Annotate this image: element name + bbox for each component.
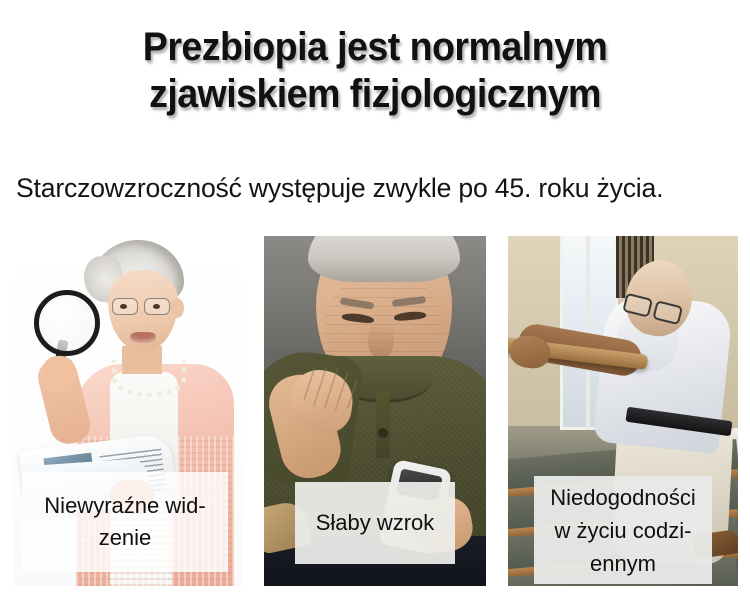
panel-3-caption: Niedogodności w życiu codzi- ennym bbox=[534, 476, 712, 584]
man-grey-hair bbox=[308, 236, 460, 282]
man-nose bbox=[368, 322, 394, 360]
man-sweater-button bbox=[378, 428, 388, 438]
woman-eye-left bbox=[120, 304, 127, 309]
symptom-panel-blurry-vision: Niewyraźne wid- zenie bbox=[14, 236, 242, 586]
panel-1-caption: Niewyraźne wid- zenie bbox=[22, 472, 228, 572]
page-subtitle: Starczowzroczność występuje zwykle po 45… bbox=[16, 172, 729, 204]
man-sweater-placket bbox=[376, 392, 390, 458]
symptom-panel-strip: Niewyraźne wid- zenie bbox=[0, 236, 750, 586]
woman-mouth bbox=[130, 332, 156, 343]
panel-2-caption: Słaby wzrok bbox=[295, 482, 455, 564]
woman-hand-holding-magnifier bbox=[42, 356, 76, 392]
symptom-panel-daily-life-difficulties: Niedogodności w życiu codzi- ennym bbox=[508, 236, 738, 586]
magnifying-glass-icon bbox=[34, 290, 100, 356]
symptom-panel-poor-eyesight: Słaby wzrok bbox=[264, 236, 486, 586]
page-title: Prezbiopia jest normalnym zjawiskiem fiz… bbox=[23, 24, 728, 118]
woman-pearl-necklace bbox=[112, 360, 186, 397]
woman-eye-right bbox=[153, 304, 160, 309]
